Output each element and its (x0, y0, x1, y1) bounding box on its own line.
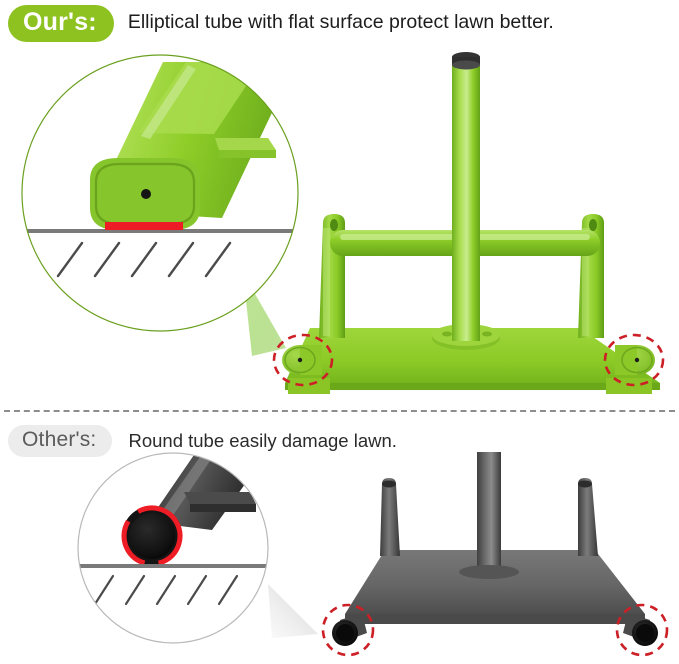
ours-post-cap-lip (452, 61, 480, 70)
ours-product-sled (274, 52, 663, 394)
ours-caption: Elliptical tube with flat surface protec… (128, 13, 554, 33)
others-section: Other's: Round tube easily damage lawn. (0, 406, 679, 664)
others-left-leg (380, 478, 400, 556)
ours-left-rail (288, 378, 330, 394)
ours-badge: Our's: (8, 5, 114, 42)
others-zoom-tube-shoulder-edge (190, 504, 256, 512)
ours-base-plate-edge (285, 383, 660, 390)
others-product-sled (323, 452, 667, 655)
others-zoom-tube-shoulder (184, 492, 256, 504)
ours-foot-left (282, 345, 322, 375)
ours-left-upright-shade (323, 228, 330, 336)
ours-zoom-tube-shoulder-edge (219, 150, 276, 158)
ours-right-eyelet (589, 219, 597, 231)
others-left-leg-cap (382, 481, 396, 488)
others-foot-left (332, 613, 367, 646)
others-vertical-post (477, 452, 501, 572)
ours-flange-bolt-left (442, 332, 452, 337)
others-illustration (0, 452, 679, 664)
others-foot-right (623, 613, 658, 646)
ours-zoom-tube-shoulder (215, 138, 276, 150)
ours-vertical-post (452, 56, 480, 341)
ours-section: Our's: Elliptical tube with flat surface… (0, 0, 679, 406)
others-base-plate-edge (345, 614, 645, 624)
others-zoom-tube-end-face (129, 513, 175, 559)
ours-left-eyelet (330, 219, 338, 231)
ours-magnifier (22, 55, 298, 331)
ours-zoom-contact-highlight (105, 222, 183, 230)
others-right-leg (578, 478, 598, 556)
others-right-leg-cap (578, 481, 592, 488)
others-connector-cone (268, 584, 318, 638)
others-magnifier (78, 452, 268, 643)
ours-flange-bolt-right (482, 332, 492, 337)
others-caption: Round tube easily damage lawn. (128, 432, 396, 451)
others-zoom-ground-line (78, 564, 268, 568)
ours-header: Our's: Elliptical tube with flat surface… (0, 4, 679, 42)
ours-foot-right (615, 345, 655, 375)
ours-illustration (0, 38, 679, 406)
ours-right-rail (606, 378, 652, 394)
ours-zoom-tube-center-dot (141, 189, 151, 199)
others-post-base-shadow (459, 565, 519, 579)
